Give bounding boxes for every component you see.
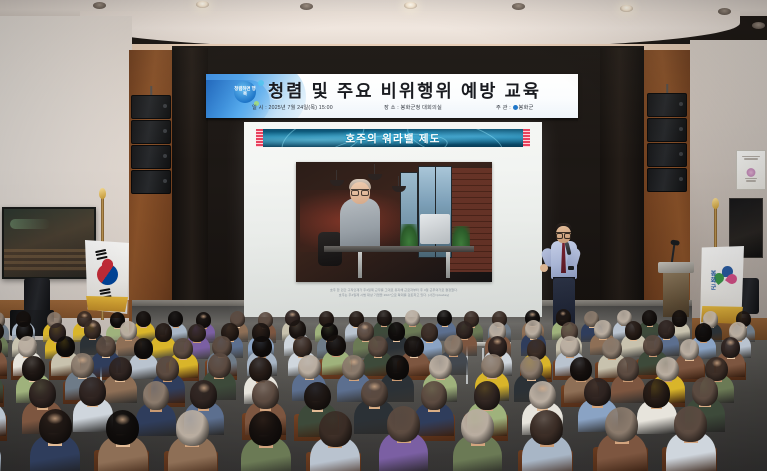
audience-member-head xyxy=(444,335,464,356)
audience-member-head xyxy=(617,357,640,382)
audience-member-scalp xyxy=(536,384,548,393)
audience-member-head xyxy=(22,356,45,381)
flag-finial-left xyxy=(99,188,106,199)
photo-standing-desk xyxy=(324,246,474,252)
slide-photo xyxy=(296,162,492,282)
certificate-line xyxy=(745,178,758,179)
audience-member-scalp xyxy=(529,312,536,317)
banner-field-place-label: 장 소 xyxy=(384,105,396,111)
certificate-seal xyxy=(747,168,756,177)
audience-member-head xyxy=(421,381,448,410)
display-image-content xyxy=(4,249,94,271)
banner-title: 청렴 및 주요 비위행위 예방 교육 xyxy=(268,78,568,103)
speaker-box xyxy=(647,143,687,167)
audience-member-head xyxy=(560,336,580,357)
audience-member-head xyxy=(658,320,675,338)
photo-person-glasses-icon xyxy=(351,189,369,194)
certificate-line xyxy=(746,180,757,181)
photo-brick-wall xyxy=(446,168,492,272)
audience-member-head xyxy=(429,355,452,380)
speaker-rigging xyxy=(150,86,152,95)
audience-member-scalp xyxy=(89,322,97,328)
audience-member-head xyxy=(249,411,282,446)
speaker-box xyxy=(131,170,171,194)
audience-member-head xyxy=(437,310,452,326)
speaker-box xyxy=(647,168,687,192)
audience-member-head xyxy=(208,353,231,378)
speaker-box xyxy=(131,95,171,119)
audience-member-head xyxy=(421,323,438,341)
audience-member-head xyxy=(368,336,388,357)
lectern-top xyxy=(658,262,694,273)
audience-member-head xyxy=(461,409,494,444)
photo-window xyxy=(418,166,452,258)
slide-title: 호주의 워라밸 제도 xyxy=(256,129,530,147)
audience-member-head xyxy=(96,336,116,357)
audience-member-head xyxy=(680,339,700,360)
audience-member-scalp xyxy=(198,383,210,392)
ceiling-downlight xyxy=(718,8,731,15)
speaker-box xyxy=(131,145,171,169)
slide-caption-line-2: 호주는 주4일제 시범 대상 기업을 2027으로 확대를 검토하고 있다. [… xyxy=(288,293,500,298)
audience-member-scalp xyxy=(81,313,88,318)
photo-plant xyxy=(452,226,470,248)
audience-member-head xyxy=(29,379,56,408)
audience-member-scalp xyxy=(368,382,380,391)
audience-member-head xyxy=(570,357,593,382)
ceiling-downlight xyxy=(404,2,417,9)
audience-member-head xyxy=(625,321,642,339)
photo-desk-leg xyxy=(446,252,450,278)
speaker-stack-right xyxy=(647,93,687,193)
audience-member-head xyxy=(304,382,331,411)
projection-screen: 호주의 워라밸 제도 호주 한 민간 구직인재가 주4일제 근무를 그대로 유지… xyxy=(244,122,542,317)
banner-field-place-value: 봉화군청 대회의실 xyxy=(401,105,442,111)
audience-member-head xyxy=(136,311,151,327)
audience-member-head xyxy=(405,310,420,326)
audience-member-head xyxy=(642,310,657,326)
ceiling-downlight xyxy=(512,3,525,10)
audience-member-head xyxy=(298,355,321,380)
audience-member-head xyxy=(387,406,420,441)
audience-member-head xyxy=(643,335,663,356)
audience-member-head xyxy=(155,323,172,341)
banner-field-date: 일 시 : 2025년 7월 24일(목) 15:00 xyxy=(252,104,333,111)
audience-member-scalp xyxy=(289,312,296,317)
banner-field-date-label: 일 시 xyxy=(252,105,264,111)
lecture-hall-photo: 청렴하면 행복 청렴 및 주요 비위행위 예방 교육 일 시 : 2025년 7… xyxy=(0,0,767,471)
audience-member-head xyxy=(176,410,209,445)
speaker-stack-left xyxy=(131,95,171,195)
audience-member-scalp xyxy=(349,358,359,366)
audience-member-head xyxy=(692,377,719,406)
audience-member-scalp xyxy=(493,338,502,345)
ceiling-downlight xyxy=(620,5,633,12)
photo-desk-leg xyxy=(358,252,362,278)
framed-certificate xyxy=(736,150,766,190)
photo-monitor xyxy=(420,214,450,244)
audience-member-head xyxy=(474,381,501,410)
audience-member-head xyxy=(643,379,670,408)
host-mark-icon xyxy=(513,105,518,110)
display-glint xyxy=(10,219,50,229)
audience-member-head xyxy=(120,321,137,339)
audience-member-head xyxy=(252,380,279,409)
audience-member-head xyxy=(404,336,424,357)
photo-pendant-lamp xyxy=(330,180,344,186)
presenter-left-hand xyxy=(540,264,548,272)
audience-member-head xyxy=(109,357,132,382)
photo-pendant-lamp xyxy=(368,174,382,180)
audience-member-head xyxy=(56,336,76,357)
banner-field-place: 장 소 : 봉화군청 대회의실 xyxy=(384,104,442,111)
audience-member-head xyxy=(319,411,352,446)
audience-member-scalp xyxy=(47,413,62,425)
slide-title-bar: 호주의 워라밸 제도 xyxy=(256,129,530,147)
event-banner: 청렴하면 행복 청렴 및 주요 비위행위 예방 교육 일 시 : 2025년 7… xyxy=(206,74,578,118)
audience-member-head xyxy=(326,335,346,356)
audience-member-head xyxy=(188,324,205,342)
speaker-box xyxy=(131,120,171,144)
presenter-glasses-icon xyxy=(556,232,571,237)
ceiling-downlight xyxy=(196,1,209,8)
ceiling-downlight xyxy=(300,3,313,10)
banner-field-host: 주 관 : 봉화군 xyxy=(496,104,533,111)
audience-member-head xyxy=(388,322,405,340)
certificate-line xyxy=(744,158,759,159)
audience-member-scalp xyxy=(77,356,87,364)
audience-member-head xyxy=(584,378,611,407)
banner-dot-blue xyxy=(258,80,264,86)
audience-member-head xyxy=(134,338,154,359)
county-flag-label: 봉화군 xyxy=(706,270,715,291)
left-wall-display xyxy=(2,207,96,279)
ceiling-downlight xyxy=(752,22,765,29)
presenter-watch xyxy=(568,266,574,270)
audience-member-head xyxy=(520,356,543,381)
integrity-logo-icon: 청렴하면 행복 xyxy=(234,81,256,103)
audience-member-head xyxy=(656,357,679,382)
audience-member-scalp xyxy=(200,314,207,319)
banner-field-host-label: 주 관 xyxy=(496,105,508,111)
audience-member-head xyxy=(386,355,409,380)
audience-member-scalp xyxy=(726,339,735,346)
photo-person-body xyxy=(340,198,380,250)
certificate-line xyxy=(742,156,761,157)
banner-field-date-value: 2025년 7월 24일(목) 15:00 xyxy=(269,105,333,111)
taeguk-symbol-icon xyxy=(97,264,118,285)
county-emblem-icon xyxy=(714,266,738,288)
audience-member-head xyxy=(156,356,179,381)
audience-member-head xyxy=(695,323,712,341)
audience-member-head xyxy=(525,320,542,338)
flag-fringe-left xyxy=(86,296,128,312)
speaker-rigging xyxy=(666,84,668,93)
audience-member-head xyxy=(18,336,38,357)
ceiling-downlight xyxy=(93,2,106,9)
audience-member-head xyxy=(143,381,170,410)
audience-member-head xyxy=(173,338,193,359)
slide-caption: 호주 한 민간 구직인재가 주4일제 근무를 그대로 유지해 근로자부터 주 4… xyxy=(288,288,500,298)
speaker-box xyxy=(647,93,687,117)
audience-member-head xyxy=(605,407,638,442)
audience-member-head xyxy=(602,338,622,359)
audience-member-head xyxy=(249,357,272,382)
speaker-box xyxy=(647,118,687,142)
audience-member-head xyxy=(79,377,106,406)
audience-member-head xyxy=(674,406,707,441)
audience-member-head xyxy=(252,336,272,357)
flag-finial-right xyxy=(712,198,719,209)
audience-member-head xyxy=(530,410,563,445)
audience-member-head xyxy=(481,354,504,379)
audience-member-head xyxy=(594,320,611,338)
banner-field-host-value: 봉화군 xyxy=(519,105,534,111)
photo-plant xyxy=(400,224,418,246)
